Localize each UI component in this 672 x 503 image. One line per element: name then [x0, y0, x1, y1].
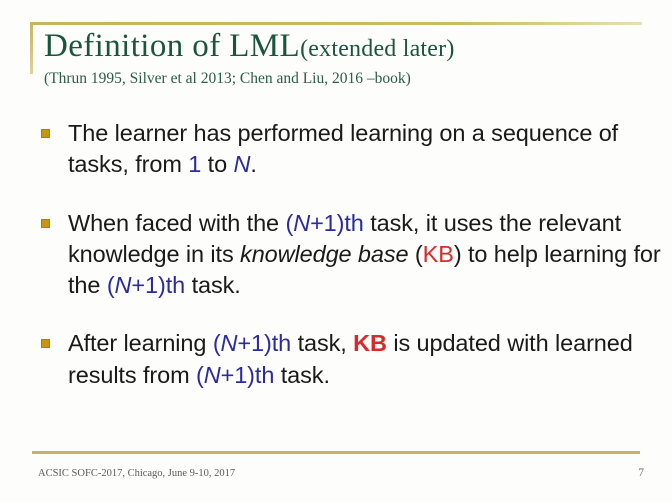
page-title-parenthetical: (extended later) — [300, 36, 454, 62]
list-item-text: The learner has performed learning on a … — [68, 118, 664, 181]
slide-header: Definition of LML(extended later) (Thrun… — [44, 28, 644, 88]
left-gold-rule — [30, 22, 33, 74]
square-bullet-icon — [41, 129, 50, 138]
list-item-text: After learning (N+1)th task, KB is updat… — [68, 328, 664, 391]
top-gold-rule — [30, 22, 642, 25]
citation-subtitle: (Thrun 1995, Silver et al 2013; Chen and… — [44, 70, 644, 88]
list-item-text: When faced with the (N+1)th task, it use… — [68, 208, 664, 302]
list-item: After learning (N+1)th task, KB is updat… — [38, 328, 664, 391]
footer-conference-label: ACSIC SOFC-2017, Chicago, June 9-10, 201… — [38, 468, 235, 479]
square-bullet-icon — [41, 339, 50, 348]
list-item: When faced with the (N+1)th task, it use… — [38, 208, 664, 302]
list-item: The learner has performed learning on a … — [38, 118, 664, 181]
presentation-slide: Definition of LML(extended later) (Thrun… — [0, 0, 672, 503]
bullet-list: The learner has performed learning on a … — [38, 118, 664, 418]
page-title: Definition of LML(extended later) — [44, 28, 644, 65]
footer-page-number: 7 — [638, 467, 644, 479]
bottom-gold-rule — [32, 451, 640, 454]
square-bullet-icon — [41, 219, 50, 228]
page-title-main: Definition of LML — [44, 28, 300, 64]
